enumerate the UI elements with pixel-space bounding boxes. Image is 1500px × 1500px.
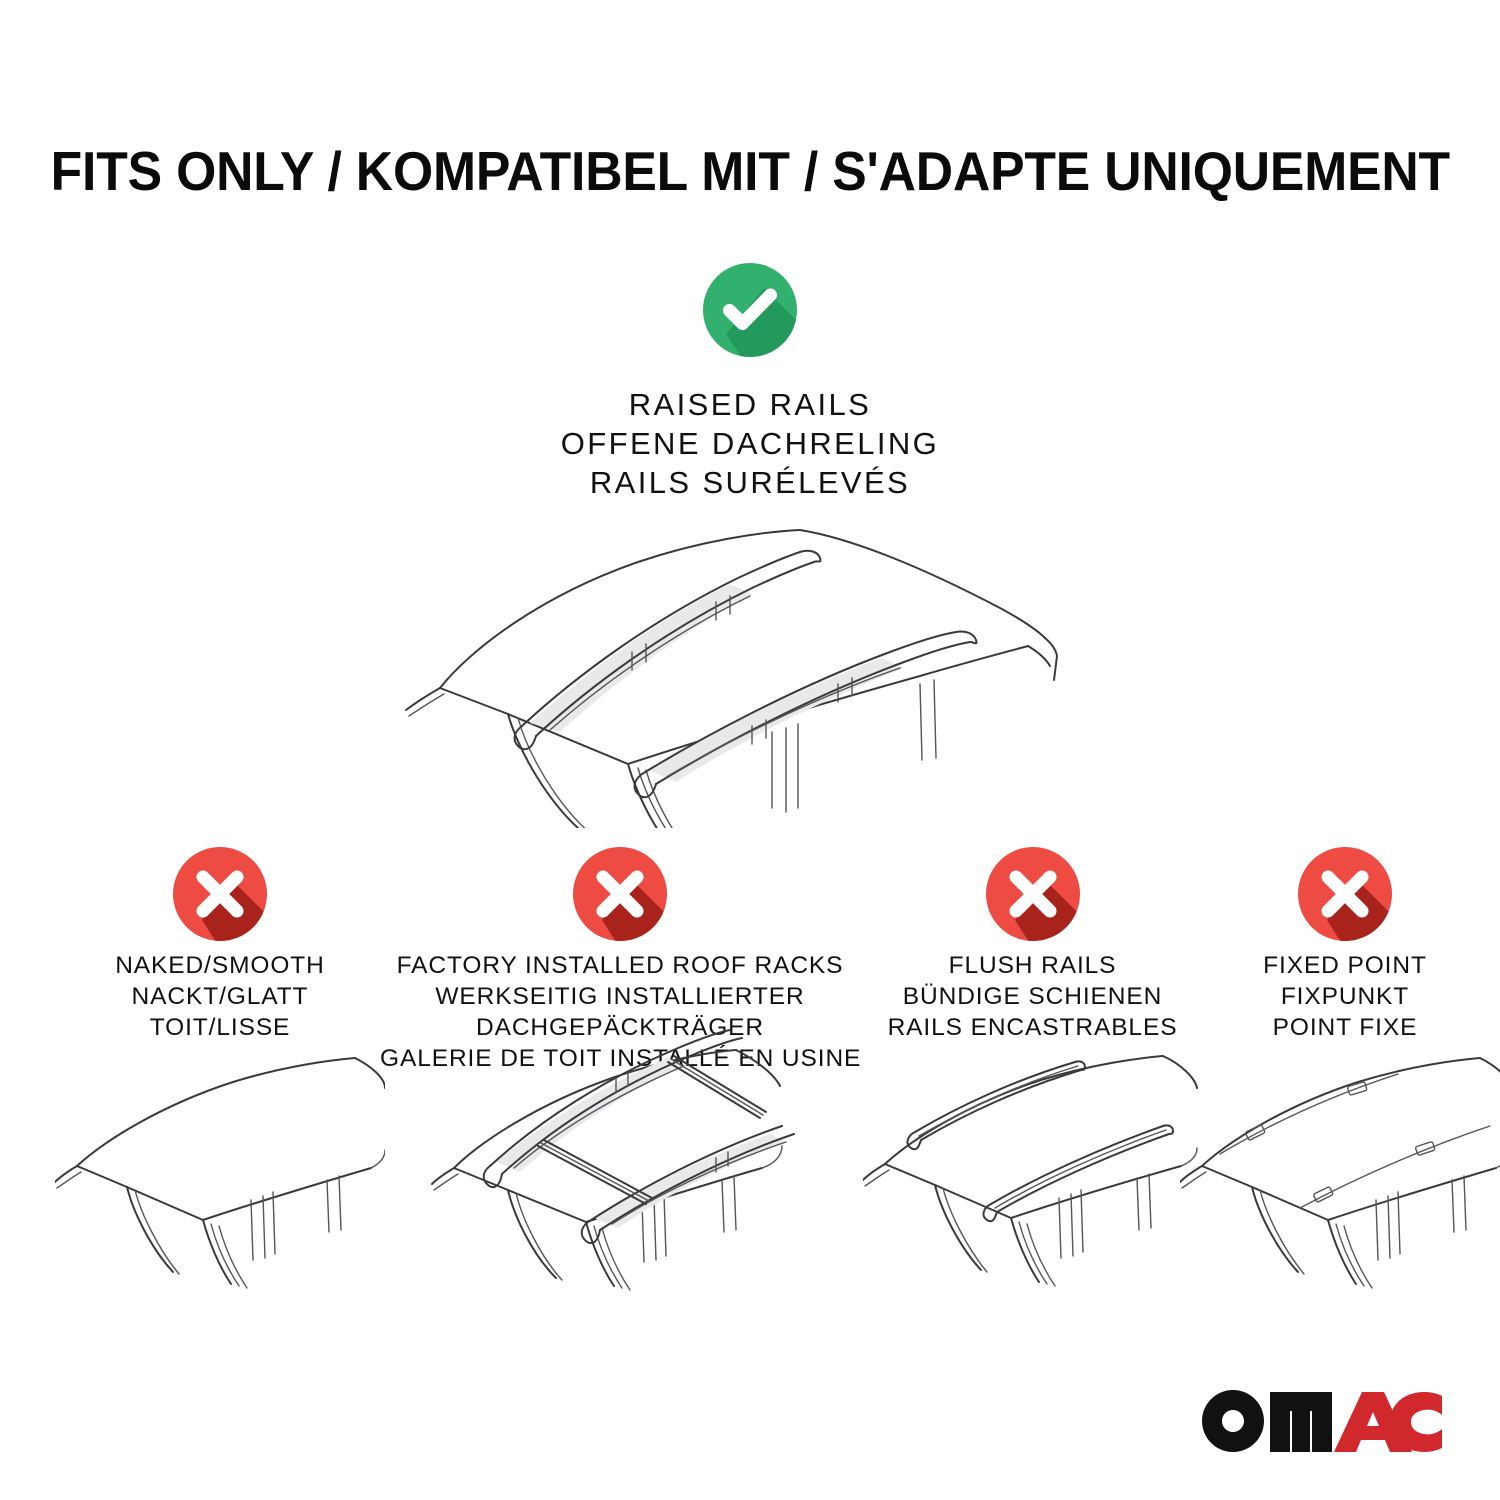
cross-circle-icon: [1297, 846, 1393, 942]
header: FITS ONLY / KOMPATIBEL MIT / S'ADAPTE UN…: [0, 104, 1500, 238]
compatible-label-de: OFFENE DACHRELING: [0, 424, 1500, 463]
label-fr: TOIT/LISSE: [30, 1012, 410, 1043]
label-de-1: WERKSEITIG INSTALLIERTER: [380, 981, 860, 1012]
label-de: BÜNDIGE SCHIENEN: [855, 981, 1210, 1012]
cross-circle-icon: [172, 846, 268, 942]
incompatible-labels: FLUSH RAILS BÜNDIGE SCHIENEN RAILS ENCAS…: [855, 950, 1210, 1043]
car-roof-fixed-point-illustration: [1180, 1054, 1500, 1294]
car-roof-factory-installed-roof-racks-illustration: [430, 1022, 810, 1294]
label-en: FACTORY INSTALLED ROOF RACKS: [380, 950, 860, 981]
cross-circle-icon: [985, 846, 1081, 942]
label-de: NACKT/GLATT: [30, 981, 410, 1012]
label-fr: POINT FIXE: [1195, 1012, 1495, 1043]
incompatible-option-flush-rails: FLUSH RAILS BÜNDIGE SCHIENEN RAILS ENCAS…: [855, 846, 1210, 1043]
incompatible-option-naked-smooth: NAKED/SMOOTH NACKT/GLATT TOIT/LISSE: [30, 846, 410, 1043]
incompatible-labels: NAKED/SMOOTH NACKT/GLATT TOIT/LISSE: [30, 950, 410, 1043]
compatible-label-en: RAISED RAILS: [0, 385, 1500, 424]
label-en: FIXED POINT: [1195, 950, 1495, 981]
label-en: NAKED/SMOOTH: [30, 950, 410, 981]
car-roof-naked-smooth-illustration: [55, 1054, 385, 1294]
car-roof-with-raised-rails-illustration: [400, 508, 1100, 828]
page-title: FITS ONLY / KOMPATIBEL MIT / S'ADAPTE UN…: [50, 141, 1449, 201]
incompatible-section: NAKED/SMOOTH NACKT/GLATT TOIT/LISSE: [0, 846, 1500, 1346]
compatible-label-fr: RAILS SURÉLEVÉS: [0, 463, 1500, 502]
incompatible-option-fixed-point: FIXED POINT FIXPUNKT POINT FIXE: [1195, 846, 1495, 1043]
omac-logo: [1202, 1382, 1442, 1452]
incompatible-labels: FIXED POINT FIXPUNKT POINT FIXE: [1195, 950, 1495, 1043]
cross-circle-icon: [572, 846, 668, 942]
compatible-section: RAISED RAILS OFFENE DACHRELING RAILS SUR…: [0, 262, 1500, 502]
incompatible-option-factory-roof-racks: FACTORY INSTALLED ROOF RACKS WERKSEITIG …: [380, 846, 860, 1074]
label-de: FIXPUNKT: [1195, 981, 1495, 1012]
label-fr: RAILS ENCASTRABLES: [855, 1012, 1210, 1043]
compatible-labels: RAISED RAILS OFFENE DACHRELING RAILS SUR…: [0, 385, 1500, 502]
label-en: FLUSH RAILS: [855, 950, 1210, 981]
check-circle-icon: [702, 262, 798, 358]
car-roof-flush-rails-illustration: [863, 1054, 1203, 1294]
